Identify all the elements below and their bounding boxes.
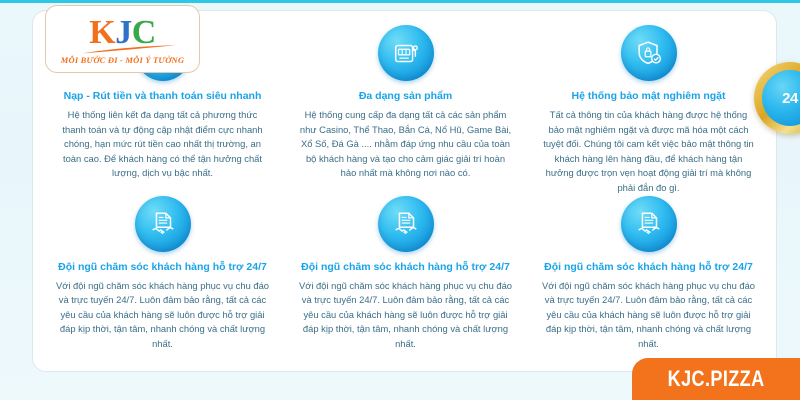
feature-card-support-3: Đội ngũ chăm sóc khách hàng hỗ trợ 24/7 … <box>527 196 770 361</box>
feature-body: Hệ thống cung cấp đa dạng tất cả các sản… <box>298 108 513 181</box>
feature-title: Đội ngũ chăm sóc khách hàng hỗ trợ 24/7 <box>301 261 510 274</box>
features-panel: Nạp - Rút tiền và thanh toán siêu nhanh … <box>32 10 777 372</box>
feature-title: Hệ thống bảo mật nghiêm ngặt <box>572 90 726 103</box>
feature-card-security: Hệ thống bảo mật nghiêm ngặt Tất cả thôn… <box>527 25 770 196</box>
feature-title: Đa dạng sản phẩm <box>359 90 452 103</box>
feature-title: Đội ngũ chăm sóc khách hàng hỗ trợ 24/7 <box>58 261 267 274</box>
feature-body: Hệ thống liên kết đa dạng tất cả phương … <box>55 108 270 181</box>
kjc-logo-card[interactable]: KJC MỖI BƯỚC ĐI - MỖI Ý TƯỞNG <box>45 5 200 73</box>
brand-watermark-label: KJC.PIZZA <box>668 366 765 392</box>
feature-card-product-variety: Đa dạng sản phẩm Hệ thống cung cấp đa dạ… <box>284 25 527 196</box>
document-handshake-icon <box>378 196 434 252</box>
feature-body: Tất cả thông tin của khách hàng được hệ … <box>541 108 756 195</box>
document-handshake-icon <box>135 196 191 252</box>
feature-title: Nạp - Rút tiền và thanh toán siêu nhanh <box>64 90 262 103</box>
document-handshake-icon <box>621 196 677 252</box>
feature-body: Với đội ngũ chăm sóc khách hàng phục vụ … <box>541 279 756 352</box>
feature-body: Với đội ngũ chăm sóc khách hàng phục vụ … <box>298 279 513 352</box>
promo-medallion-label: 24 <box>762 70 800 126</box>
top-accent-rule <box>0 0 800 3</box>
shield-lock-check-icon <box>621 25 677 81</box>
feature-body: Với đội ngũ chăm sóc khách hàng phục vụ … <box>55 279 270 352</box>
logo-swoosh-icon <box>82 45 178 54</box>
feature-card-support-2: Đội ngũ chăm sóc khách hàng hỗ trợ 24/7 … <box>284 196 527 361</box>
brand-watermark-tab: KJC.PIZZA <box>632 358 800 400</box>
feature-title: Đội ngũ chăm sóc khách hàng hỗ trợ 24/7 <box>544 261 753 274</box>
slot-machine-icon <box>378 25 434 81</box>
feature-card-support-1: Đội ngũ chăm sóc khách hàng hỗ trợ 24/7 … <box>41 196 284 361</box>
logo-tagline: MỖI BƯỚC ĐI - MỖI Ý TƯỞNG <box>61 55 185 65</box>
